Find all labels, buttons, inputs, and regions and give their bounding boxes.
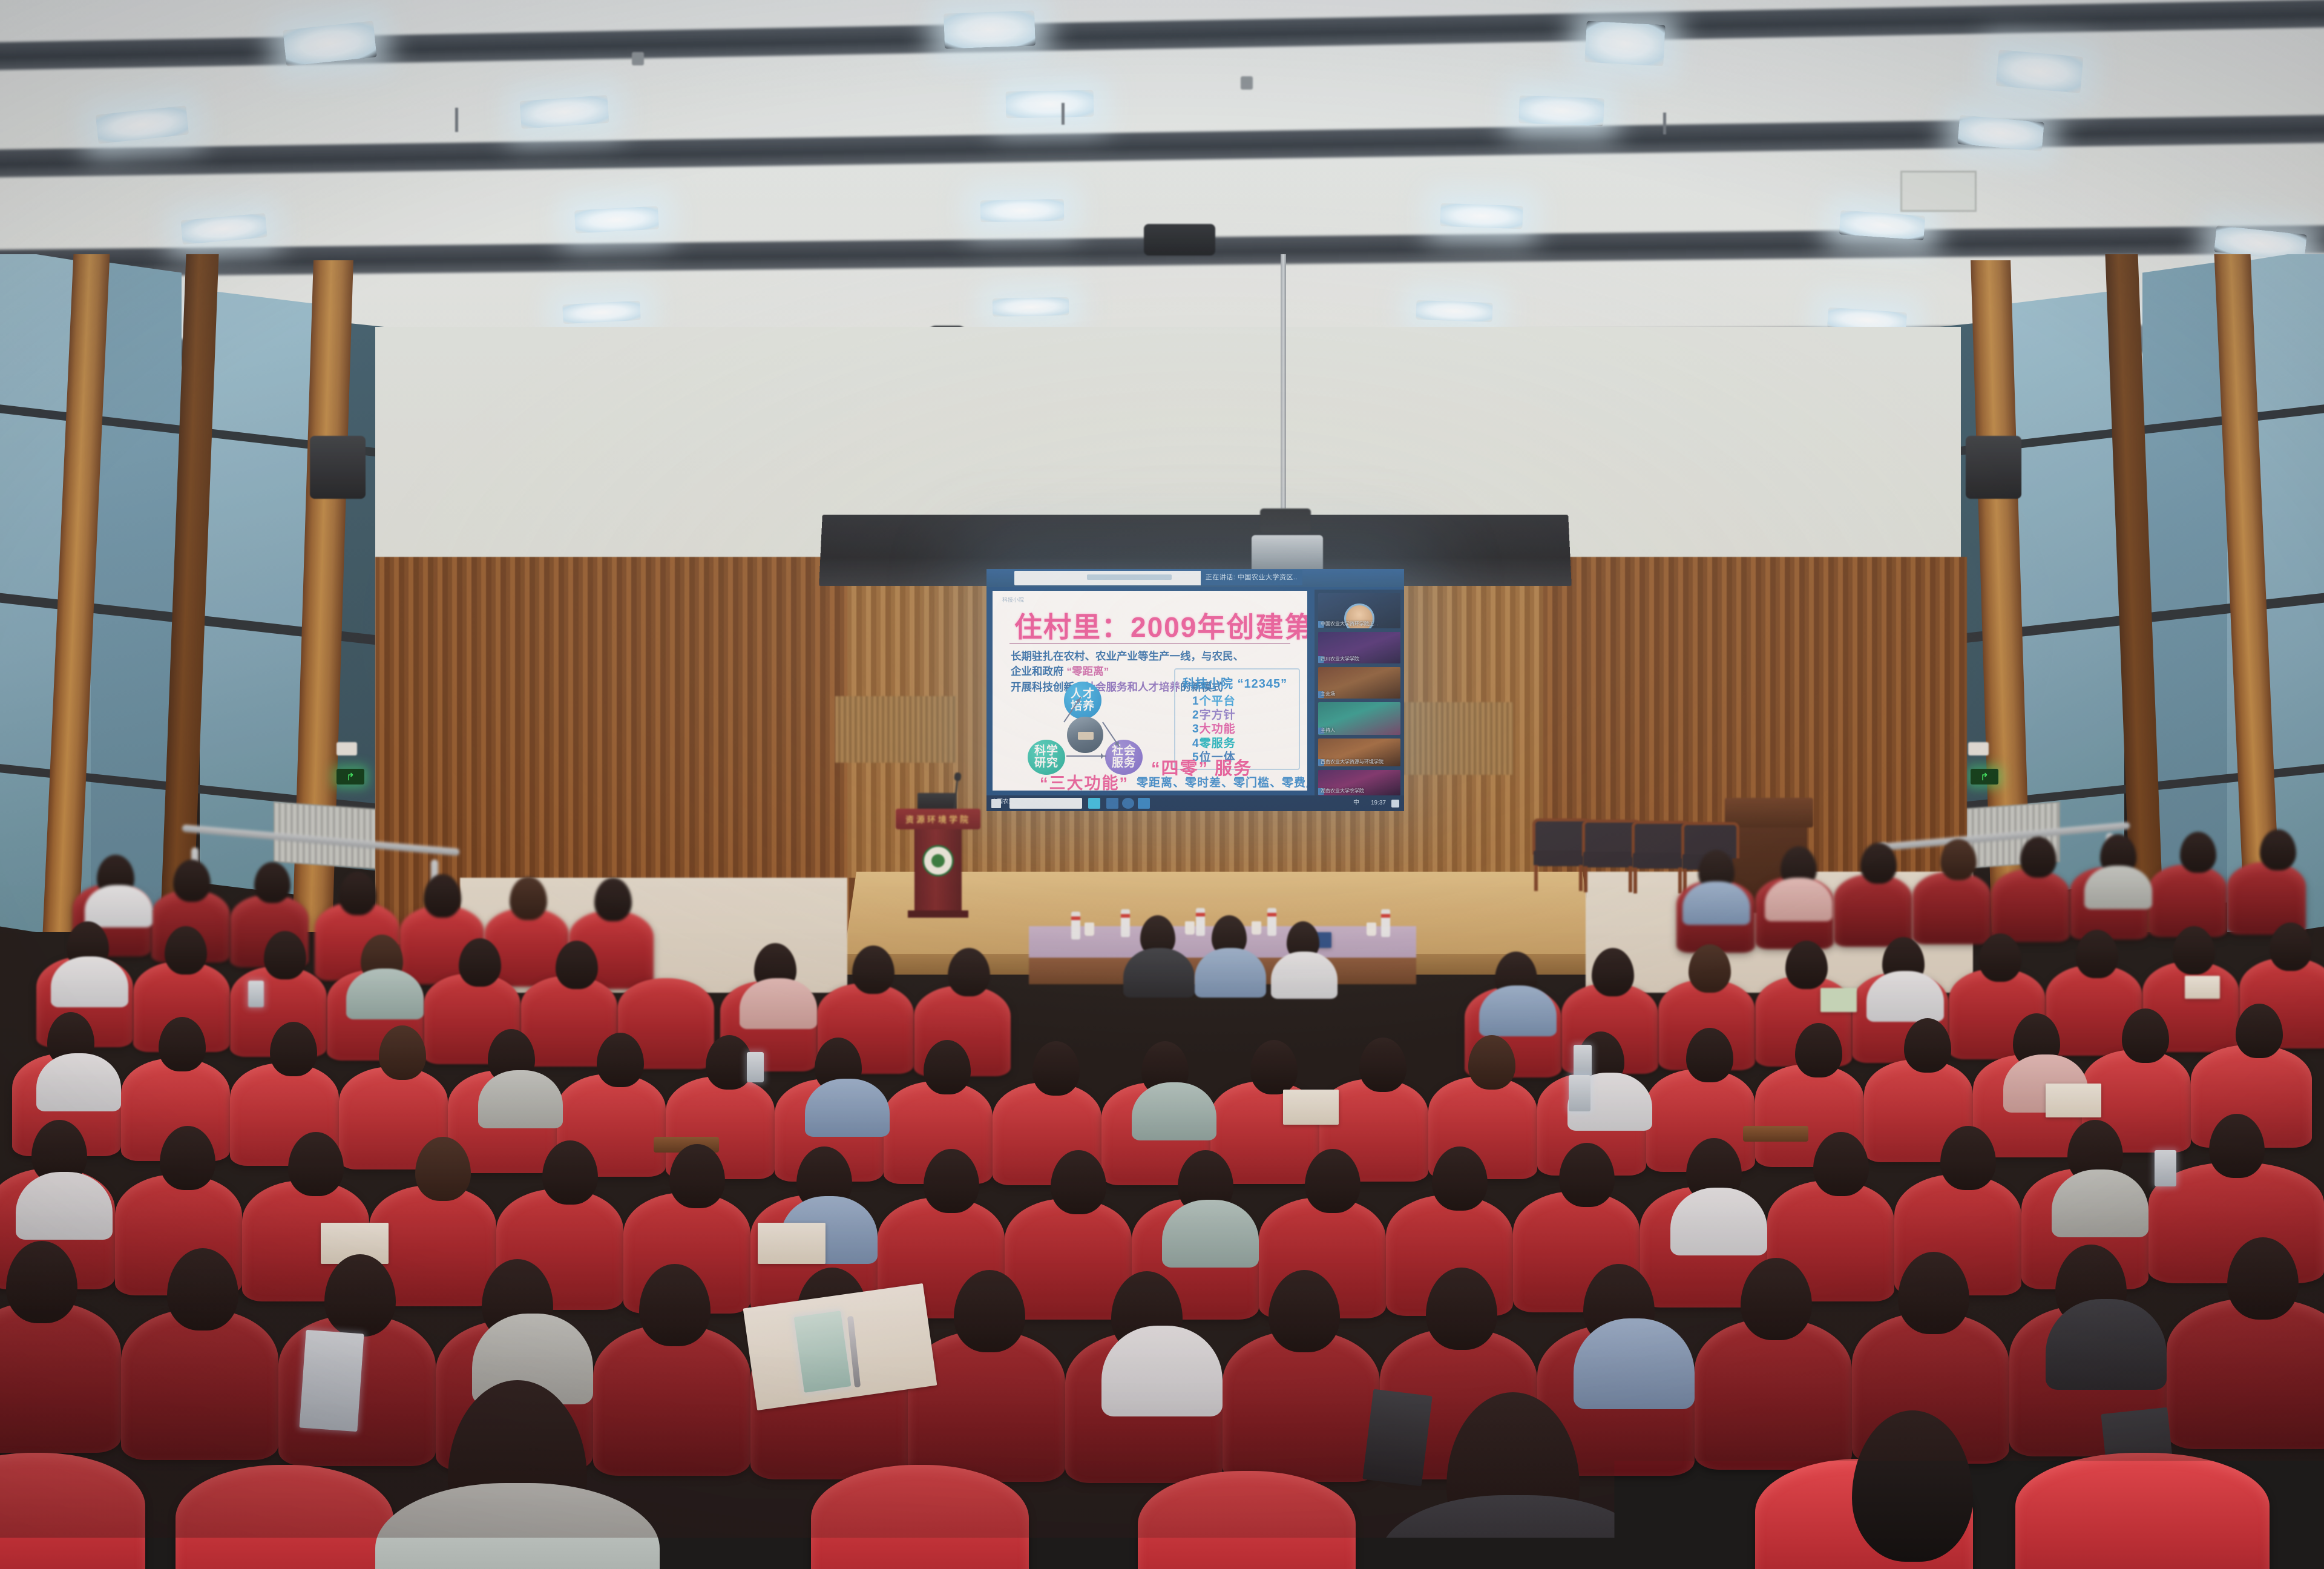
participant-tile[interactable]: 四川农业大学学院 bbox=[1318, 632, 1400, 663]
taskbar-search[interactable] bbox=[1009, 798, 1082, 809]
smartphone[interactable] bbox=[299, 1330, 364, 1432]
participant-tile[interactable]: 主持人 bbox=[1318, 702, 1400, 735]
auditorium-seat bbox=[593, 1324, 750, 1476]
notebook bbox=[1820, 988, 1857, 1012]
slide-divider bbox=[1009, 643, 1290, 644]
person-shoulders bbox=[375, 1483, 660, 1569]
circle-label-line2: 研究 bbox=[1034, 757, 1059, 769]
slide-title: 住村里：2009年创建第一个科技小院 bbox=[1014, 605, 1307, 645]
notebook bbox=[2046, 1084, 2101, 1117]
ceiling-light bbox=[562, 301, 640, 324]
exit-sign: ↱ bbox=[336, 769, 364, 784]
participant-label: 四川农业大学学院 bbox=[1321, 656, 1359, 662]
auditorium-seat bbox=[121, 1309, 278, 1460]
podium-nameplate: 资源环境学院 bbox=[901, 815, 975, 824]
person-shoulders bbox=[2046, 1299, 2167, 1390]
ceiling-hanger bbox=[455, 108, 458, 132]
person-shoulders bbox=[16, 1172, 113, 1240]
video-conference-sidebar: 中国农业大学资环学院正... 四川农业大学学院 主会场 主持人 西南农业大学资源… bbox=[1315, 590, 1404, 795]
smartphone[interactable] bbox=[747, 1052, 764, 1082]
person-shoulders bbox=[1101, 1326, 1223, 1416]
taskbar-app-button[interactable] bbox=[1088, 798, 1100, 809]
box-item: 2字方针 bbox=[1192, 708, 1292, 722]
auditorium-seat bbox=[176, 1465, 393, 1569]
wall-speaker bbox=[1966, 436, 2021, 499]
ceiling-vent bbox=[1900, 171, 1977, 212]
ceiling-light bbox=[574, 206, 659, 233]
participant-label: 中国农业大学资环学院正... bbox=[1321, 620, 1378, 627]
person-shoulders bbox=[1132, 1082, 1216, 1140]
person-shoulders bbox=[805, 1079, 890, 1137]
box-heading: 科技小院 “12345” bbox=[1183, 674, 1292, 691]
participant-tile[interactable]: 中国农业大学资环学院正... bbox=[1318, 593, 1400, 628]
speaking-indicator: 正在讲话: 中国农业大学资区.. bbox=[1201, 570, 1302, 585]
notebook bbox=[2185, 976, 2220, 999]
start-button[interactable] bbox=[991, 799, 1001, 808]
circle-label-line1: 科学 bbox=[1034, 745, 1059, 757]
participant-label: 主会场 bbox=[1321, 691, 1335, 697]
person-shoulders bbox=[1162, 1200, 1259, 1268]
diagram-center-photo bbox=[1067, 717, 1103, 753]
person-shoulders bbox=[1866, 971, 1944, 1022]
exit-sign-glyph: ↱ bbox=[346, 772, 355, 782]
person-shoulders bbox=[51, 956, 128, 1007]
person-shoulders bbox=[85, 885, 153, 927]
taskbar-app-button[interactable] bbox=[1106, 798, 1118, 809]
photo-signboard bbox=[1078, 732, 1094, 740]
projector-pole bbox=[1281, 254, 1286, 508]
light-switch[interactable] bbox=[1968, 742, 1989, 755]
slide-kicker: 科技小院 bbox=[1002, 596, 1024, 604]
person-shoulders bbox=[1765, 878, 1833, 921]
sprinkler-head bbox=[632, 52, 644, 65]
participant-tile[interactable]: 主会场 bbox=[1318, 667, 1400, 699]
slide-body-line2c: 和人才培养 bbox=[1128, 681, 1181, 693]
ceiling-light bbox=[993, 297, 1069, 317]
taskbar-app-button[interactable] bbox=[1122, 798, 1134, 809]
ceiling-light bbox=[1416, 300, 1492, 322]
participant-label: 西南农业大学资源与环境学院 bbox=[1321, 758, 1384, 765]
taskbar-app-button[interactable] bbox=[1138, 798, 1150, 809]
windows-taskbar: 中国农业大学资环学院云课堂共享 中 19:37 bbox=[986, 795, 1404, 811]
auditorium-seat bbox=[811, 1465, 1029, 1569]
exit-sign: ↱ bbox=[1971, 769, 1998, 784]
box-item: 3大功能 bbox=[1192, 722, 1292, 736]
smartphone[interactable] bbox=[1569, 1075, 1590, 1111]
ceiling-light bbox=[1996, 50, 2084, 93]
light-switch[interactable] bbox=[336, 742, 357, 755]
person-shoulders bbox=[1479, 985, 1557, 1036]
notebook bbox=[1283, 1090, 1339, 1125]
box-item: 1个平台 bbox=[1192, 694, 1292, 708]
auditorium-photo: ↱ ↱ 正在讲话: 中国农业大学资区.. bbox=[0, 0, 2324, 1569]
circle-label-line2: 服务 bbox=[1112, 757, 1136, 769]
ceiling-hanger bbox=[1663, 113, 1666, 134]
diagram-arrow bbox=[1066, 755, 1106, 757]
participant-tile[interactable]: 湖南农业大学农学院 bbox=[1318, 770, 1400, 795]
laptop bbox=[917, 793, 956, 810]
participant-label: 主持人 bbox=[1321, 727, 1335, 734]
ceiling-hanger bbox=[1062, 103, 1065, 125]
projector-mount bbox=[1260, 508, 1311, 533]
taskbar-ime-indicator[interactable]: 中 bbox=[1353, 795, 1359, 811]
projection-screen: 正在讲话: 中国农业大学资区.. 科技小院 住村里：2009年创建第一个科技小院… bbox=[986, 569, 1404, 811]
ceiling-light bbox=[1584, 21, 1665, 67]
auditorium-seat bbox=[2167, 1298, 2324, 1449]
person-shoulders bbox=[2084, 866, 2152, 909]
person-shoulders bbox=[1380, 1495, 1652, 1569]
auditorium-seat bbox=[1991, 869, 2070, 942]
auditorium-seat bbox=[1138, 1471, 1356, 1569]
person-shoulders bbox=[1574, 1318, 1695, 1409]
auditorium-seat bbox=[1834, 874, 1912, 947]
participant-tile[interactable]: 西南农业大学资源与环境学院 bbox=[1318, 738, 1400, 766]
ceiling-light bbox=[944, 10, 1036, 48]
lectern-top bbox=[1725, 798, 1813, 827]
ceiling-light bbox=[1518, 96, 1604, 127]
auditorium-seat bbox=[1912, 872, 1991, 944]
auditorium-seat bbox=[2015, 1453, 2270, 1569]
person-shoulders bbox=[478, 1070, 563, 1128]
projector bbox=[1252, 535, 1323, 574]
auditorium-seat bbox=[1005, 1199, 1132, 1320]
slide-service-sub: 零距离、零时差、零门槛、零费用 bbox=[1137, 774, 1307, 790]
smartphone[interactable] bbox=[248, 981, 264, 1007]
ceiling-light bbox=[1440, 203, 1523, 229]
notebook bbox=[758, 1223, 826, 1264]
person-shoulders bbox=[740, 978, 817, 1029]
presentation-slide: 科技小院 住村里：2009年创建第一个科技小院 长期驻扎在农村、农业产业等生产一… bbox=[993, 591, 1307, 791]
smartphone[interactable] bbox=[1362, 1389, 1433, 1487]
person-shoulders bbox=[346, 969, 424, 1019]
person-shoulders bbox=[36, 1053, 121, 1111]
auditorium-seat bbox=[0, 1301, 121, 1453]
ceiling-speaker bbox=[1144, 224, 1215, 255]
person-shoulders bbox=[1682, 881, 1750, 925]
diagram-caption: “三大功能” bbox=[1040, 770, 1129, 791]
meeting-window-titlebar: 正在讲话: 中国农业大学资区.. bbox=[986, 569, 1404, 587]
exit-sign-glyph: ↱ bbox=[1980, 772, 1989, 782]
smartphone[interactable] bbox=[1574, 1045, 1592, 1076]
wall-ac-vent bbox=[835, 696, 956, 763]
taskbar-clock[interactable]: 19:37 bbox=[1371, 795, 1386, 811]
box-item: 4零服务 bbox=[1192, 737, 1292, 751]
slide-body-accent: “零距离” bbox=[1066, 665, 1109, 677]
seat-armrest bbox=[1743, 1126, 1808, 1142]
smartphone[interactable] bbox=[2155, 1150, 2176, 1186]
participant-label: 湖南农业大学农学院 bbox=[1321, 788, 1364, 794]
auditorium-seat bbox=[1695, 1318, 1852, 1470]
auditorium-seat bbox=[2148, 864, 2227, 937]
ceiling-light bbox=[1006, 90, 1094, 119]
auditorium-seat bbox=[1223, 1331, 1380, 1482]
person-shoulders bbox=[1670, 1188, 1767, 1255]
auditorium-seat bbox=[0, 1453, 145, 1569]
sprinkler-head bbox=[1241, 76, 1253, 90]
person-shoulders bbox=[2052, 1169, 2148, 1237]
wall-speaker bbox=[310, 436, 366, 499]
notification-icon[interactable] bbox=[1391, 800, 1399, 808]
ceiling-light bbox=[980, 199, 1065, 222]
